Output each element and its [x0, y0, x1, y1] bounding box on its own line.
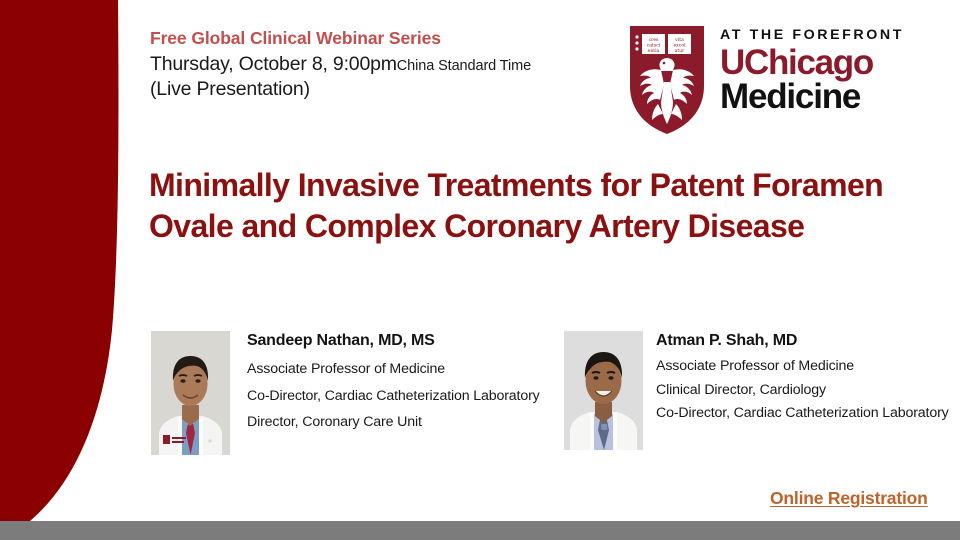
svg-text:entia: entia — [648, 48, 660, 54]
svg-text:cres: cres — [649, 38, 659, 43]
headshot-illustration — [151, 331, 230, 455]
page-title: Minimally Invasive Treatments for Patent… — [149, 165, 909, 247]
svg-text:vita: vita — [674, 37, 684, 43]
logo-brand-primary: UChicago — [720, 45, 930, 81]
speaker-role: Co-Director, Cardiac Catheterization Lab… — [656, 405, 956, 423]
speaker-role: Clinical Director, Cardiology — [656, 382, 956, 400]
speaker-role: Associate Professor of Medicine — [247, 361, 547, 379]
online-registration-link[interactable]: Online Registration — [770, 488, 928, 509]
speaker-name: Sandeep Nathan, MD, MS — [247, 331, 547, 352]
bottom-gray-bar — [0, 521, 960, 540]
svg-text:atur: atur — [675, 48, 686, 54]
headshot-illustration — [564, 331, 643, 450]
logo-wordmark: AT THE FOREFRONT UChicago Medicine — [720, 24, 930, 115]
speaker-full-name: Atman P. Shah, — [656, 332, 769, 349]
speaker-credentials: MD — [773, 332, 797, 349]
svg-text:excol: excol — [673, 43, 686, 49]
event-datetime-line: Thursday, October 8, 9:00pmChina Standar… — [150, 52, 620, 77]
speaker-role: Associate Professor of Medicine — [656, 358, 956, 376]
event-timezone: China Standard Time — [397, 58, 531, 74]
logo-brand-secondary: Medicine — [720, 79, 930, 115]
presentation-type: (Live Presentation) — [150, 77, 620, 102]
event-datetime: Thursday, October 8, 9:00pm — [150, 53, 397, 75]
speaker-role: Co-Director, Cardiac Catheterization Lab… — [247, 388, 547, 406]
header-text-block: Free Global Clinical Webinar Series Thur… — [150, 28, 620, 102]
speaker-full-name: Sandeep Nathan, — [247, 332, 374, 349]
speaker-name: Atman P. Shah, MD — [656, 331, 956, 352]
speaker-role: Director, Coronary Care Unit — [247, 414, 547, 432]
logo-tagline: AT THE FOREFRONT — [720, 24, 930, 42]
webinar-slide: Free Global Clinical Webinar Series Thur… — [0, 0, 960, 540]
left-maroon-wedge-decoration — [0, 0, 160, 524]
speaker-photo — [151, 331, 230, 455]
series-label: Free Global Clinical Webinar Series — [150, 28, 620, 50]
speaker-photo — [564, 331, 643, 450]
speaker-info: Sandeep Nathan, MD, MS Associate Profess… — [247, 331, 547, 432]
speaker-info: Atman P. Shah, MD Associate Professor of… — [656, 331, 956, 423]
uchicago-medicine-logo: cres catsci entia vita excol atur AT THE… — [628, 24, 928, 136]
uchicago-phoenix-shield-icon: cres catsci entia vita excol atur — [628, 24, 706, 136]
speaker-credentials: MD, MS — [378, 332, 435, 349]
svg-text:catsci: catsci — [647, 43, 661, 49]
